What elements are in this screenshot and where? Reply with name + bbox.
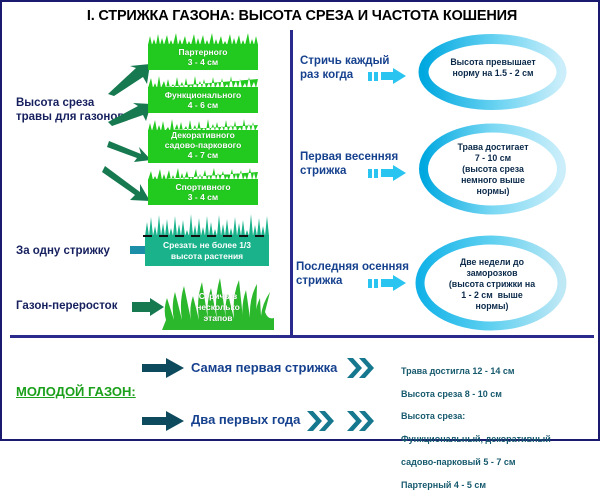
grass-tips-icon	[148, 33, 258, 45]
overgrown-tuft-text: Стричь в несколько этапов	[162, 291, 274, 324]
ring2-line4: немного выше	[430, 175, 556, 186]
rl3-line1: Последняя осенняя	[296, 260, 414, 274]
tuft-line3: этапов	[162, 313, 274, 324]
bt2-line3: садово-парковый 5 - 7 см	[401, 457, 600, 469]
young-lawn-label: МОЛОДОЙ ГАЗОН:	[16, 384, 136, 399]
fan-arrow-2-icon	[106, 102, 152, 126]
bottom-arrow-2-icon	[142, 411, 184, 431]
bottom-row-2-detail: Высота среза: Функциональный, декоративн…	[401, 399, 600, 503]
fan-arrow-1-icon	[106, 64, 152, 96]
blue-arrow-2-icon	[368, 165, 406, 181]
grass-tips-icon	[148, 119, 258, 131]
rl2-line1: Первая весенняя	[300, 150, 412, 164]
grass-block-name: Спортивного	[148, 182, 258, 192]
ring2-line5: нормы)	[430, 186, 556, 197]
ring3-line3: (высота стрижки на	[426, 279, 558, 290]
ring1-line1: Высота превышает	[432, 57, 554, 68]
bt2-line2: Функциональный, декоративный	[401, 434, 600, 446]
grass-block-height: 4 - 6 см	[148, 100, 258, 110]
grass-block-name: Партерного	[148, 47, 258, 57]
ring2-line3: (высота среза	[430, 164, 556, 175]
infographic-root: I. СТРИЖКА ГАЗОНА: ВЫСОТА СРЕЗА И ЧАСТОТ…	[0, 0, 600, 441]
ring2-line1: Трава достигает	[430, 142, 556, 153]
grass-block-funkcionalny: Функционального 4 - 6 см	[148, 87, 258, 113]
ring2-line2: 7 - 10 см	[430, 153, 556, 164]
bt1-line1: Трава достигла 12 - 14 см	[401, 366, 600, 378]
fan-arrow-3-icon	[106, 138, 152, 162]
grass-block-height: 4 - 7 см	[148, 150, 258, 160]
horizontal-divider	[10, 335, 594, 338]
grass-block-sportivny: Спортивного 3 - 4 см	[148, 179, 258, 205]
ring-1-text: Высота превышает норму на 1.5 - 2 см	[432, 57, 554, 79]
tall-grass-icon	[145, 214, 269, 236]
bt2-line1: Высота среза:	[401, 411, 600, 423]
blue-arrow-1-icon	[368, 68, 406, 84]
vertical-divider	[290, 30, 293, 335]
ring3-line5: нормы)	[426, 301, 558, 312]
grass-block-height: 3 - 4 см	[148, 57, 258, 67]
label-one-cut: За одну стрижку	[16, 245, 136, 257]
grass-tips-icon	[148, 76, 258, 88]
tuft-line2: несколько	[162, 302, 274, 313]
rl1-line1: Стричь каждый	[300, 54, 408, 68]
page-title: I. СТРИЖКА ГАЗОНА: ВЫСОТА СРЕЗА И ЧАСТОТ…	[2, 8, 600, 24]
fan-arrow-4-icon	[102, 164, 152, 202]
label-overgrown-lawn: Газон-переросток	[16, 300, 146, 312]
ring-2-text: Трава достигает 7 - 10 см (высота среза …	[430, 142, 556, 197]
grass-block-height: 3 - 4 см	[148, 192, 258, 202]
one-cut-text-line2: высота растения	[145, 251, 269, 262]
ring1-line2: норму на 1.5 - 2 см	[432, 68, 554, 79]
chevron-double-2a-icon	[307, 410, 341, 432]
ring3-line1: Две недели до	[426, 257, 558, 268]
chevron-double-1-icon	[347, 357, 381, 379]
grass-block-name: Функционального	[148, 90, 258, 100]
ring-3-text: Две недели до заморозков (высота стрижки…	[426, 257, 558, 312]
bottom-arrow-1-icon	[142, 358, 184, 378]
one-cut-text-line1: Срезать не более 1/3	[145, 240, 269, 251]
tuft-line1: Стричь в	[162, 291, 274, 302]
cut-line-dashed	[143, 235, 271, 237]
ring3-line2: заморозков	[426, 268, 558, 279]
blue-arrow-3-icon	[368, 275, 406, 291]
bottom-row-1-label: Самая первая стрижка	[191, 360, 337, 375]
grass-block-parterny: Партерного 3 - 4 см	[148, 44, 258, 70]
green-arrow-overgrown-icon	[132, 298, 164, 316]
grass-tips-icon	[148, 168, 258, 180]
ring3-line4: 1 - 2 см выше	[426, 290, 558, 301]
grass-block-name-line1: Декоративного	[148, 130, 258, 140]
grass-block-dekorativny: Декоративного садово-паркового 4 - 7 см	[148, 130, 258, 163]
one-cut-block: Срезать не более 1/3 высота растения	[145, 235, 269, 266]
bt2-line4: Партерный 4 - 5 см	[401, 480, 600, 492]
grass-block-name-line2: садово-паркового	[148, 140, 258, 150]
bottom-row-2-label: Два первых года	[191, 412, 300, 427]
chevron-double-2b-icon	[347, 410, 381, 432]
